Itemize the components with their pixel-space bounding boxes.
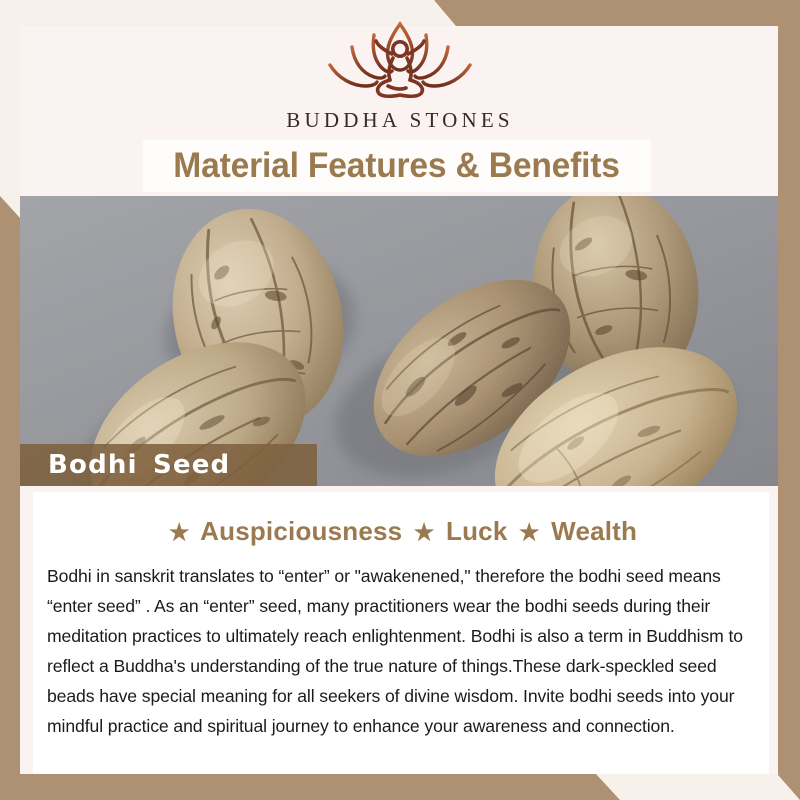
page-title: Material Features & Benefits	[174, 146, 621, 186]
seed-name-label: Bodhi Seed	[48, 450, 230, 480]
star-icon: ★	[169, 519, 190, 545]
seed-name-band: Bodhi Seed	[20, 444, 317, 486]
bodhi-seed-photo	[20, 196, 778, 486]
photo-illustration	[20, 196, 778, 486]
tagline-item: Luck	[439, 516, 515, 546]
frame-accent-bottom-left	[0, 774, 800, 800]
brand-logo: BUDDHA STONES	[0, 18, 800, 133]
brand-name: BUDDHA STONES	[286, 108, 514, 133]
lotus-meditation-icon	[300, 18, 500, 104]
benefits-tagline: ★ Auspiciousness ★ Luck ★ Wealth	[33, 516, 769, 547]
title-banner: Material Features & Benefits	[143, 140, 651, 192]
frame-accent-left	[0, 196, 20, 800]
star-icon: ★	[519, 519, 540, 545]
description-paragraph: Bodhi in sanskrit translates to “enter” …	[47, 561, 755, 741]
content-panel: ★ Auspiciousness ★ Luck ★ Wealth Bodhi i…	[33, 492, 769, 774]
tagline-item: Auspiciousness	[194, 516, 410, 546]
star-icon: ★	[414, 519, 435, 545]
infographic-poster: BUDDHA STONES Material Features & Benefi…	[0, 0, 800, 800]
tagline-item: Wealth	[544, 516, 637, 546]
